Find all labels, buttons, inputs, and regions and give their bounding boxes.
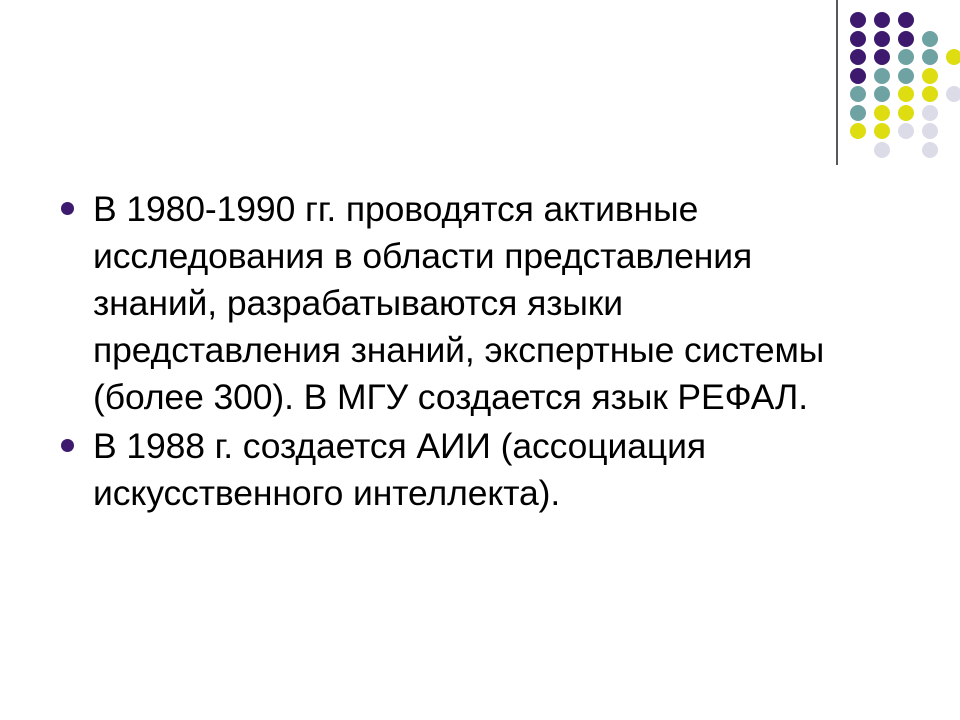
dot-blank (850, 142, 866, 158)
list-item: В 1988 г. создается АИИ (ассоциация иску… (55, 423, 855, 517)
bullet-marker-icon (61, 439, 74, 452)
dot-teal (874, 86, 890, 102)
dot-grid-icon (850, 12, 958, 162)
dot-teal (922, 49, 938, 65)
dot-yellow (898, 105, 914, 121)
bullet-marker-icon (61, 202, 74, 215)
dot-purple (898, 31, 914, 47)
dot-yellow (898, 86, 914, 102)
dot-lavender (946, 86, 960, 102)
dot-teal (874, 68, 890, 84)
slide-body: В 1980-1990 гг. проводятся активные иссл… (55, 186, 855, 519)
dot-teal (898, 49, 914, 65)
dot-teal (850, 86, 866, 102)
dot-grid-row (850, 31, 946, 48)
dot-grid-row (850, 105, 946, 122)
dot-purple (850, 31, 866, 47)
dot-grid-row (850, 86, 960, 103)
dot-yellow (874, 123, 890, 139)
dot-lavender (922, 142, 938, 158)
slide-canvas: В 1980-1990 гг. проводятся активные иссл… (0, 0, 960, 720)
dot-grid-row (850, 123, 946, 140)
dot-purple (898, 12, 914, 28)
dot-grid-row (850, 68, 946, 85)
dot-teal (898, 68, 914, 84)
dot-lavender (922, 105, 938, 121)
dot-purple (874, 31, 890, 47)
dot-yellow (922, 86, 938, 102)
bullet-text-1: В 1980-1990 гг. проводятся активные иссл… (93, 186, 855, 421)
dot-lavender (874, 142, 890, 158)
dot-teal (850, 105, 866, 121)
list-item: В 1980-1990 гг. проводятся активные иссл… (55, 186, 855, 421)
dot-purple (850, 49, 866, 65)
dot-blank (898, 142, 914, 158)
dot-lavender (898, 123, 914, 139)
bullet-text-2: В 1988 г. создается АИИ (ассоциация иску… (93, 423, 855, 517)
dot-yellow (922, 68, 938, 84)
dot-purple (874, 49, 890, 65)
dot-grid-row (850, 49, 960, 66)
dot-yellow (874, 105, 890, 121)
dot-grid-row (850, 12, 922, 29)
vertical-divider-line (836, 0, 838, 165)
dot-yellow (850, 123, 866, 139)
dot-purple (874, 12, 890, 28)
dot-purple (850, 68, 866, 84)
dot-yellow (946, 49, 960, 65)
dot-grid-row (850, 142, 946, 159)
dot-teal (922, 31, 938, 47)
header-ornament (830, 0, 960, 170)
dot-lavender (922, 123, 938, 139)
dot-purple (850, 12, 866, 28)
